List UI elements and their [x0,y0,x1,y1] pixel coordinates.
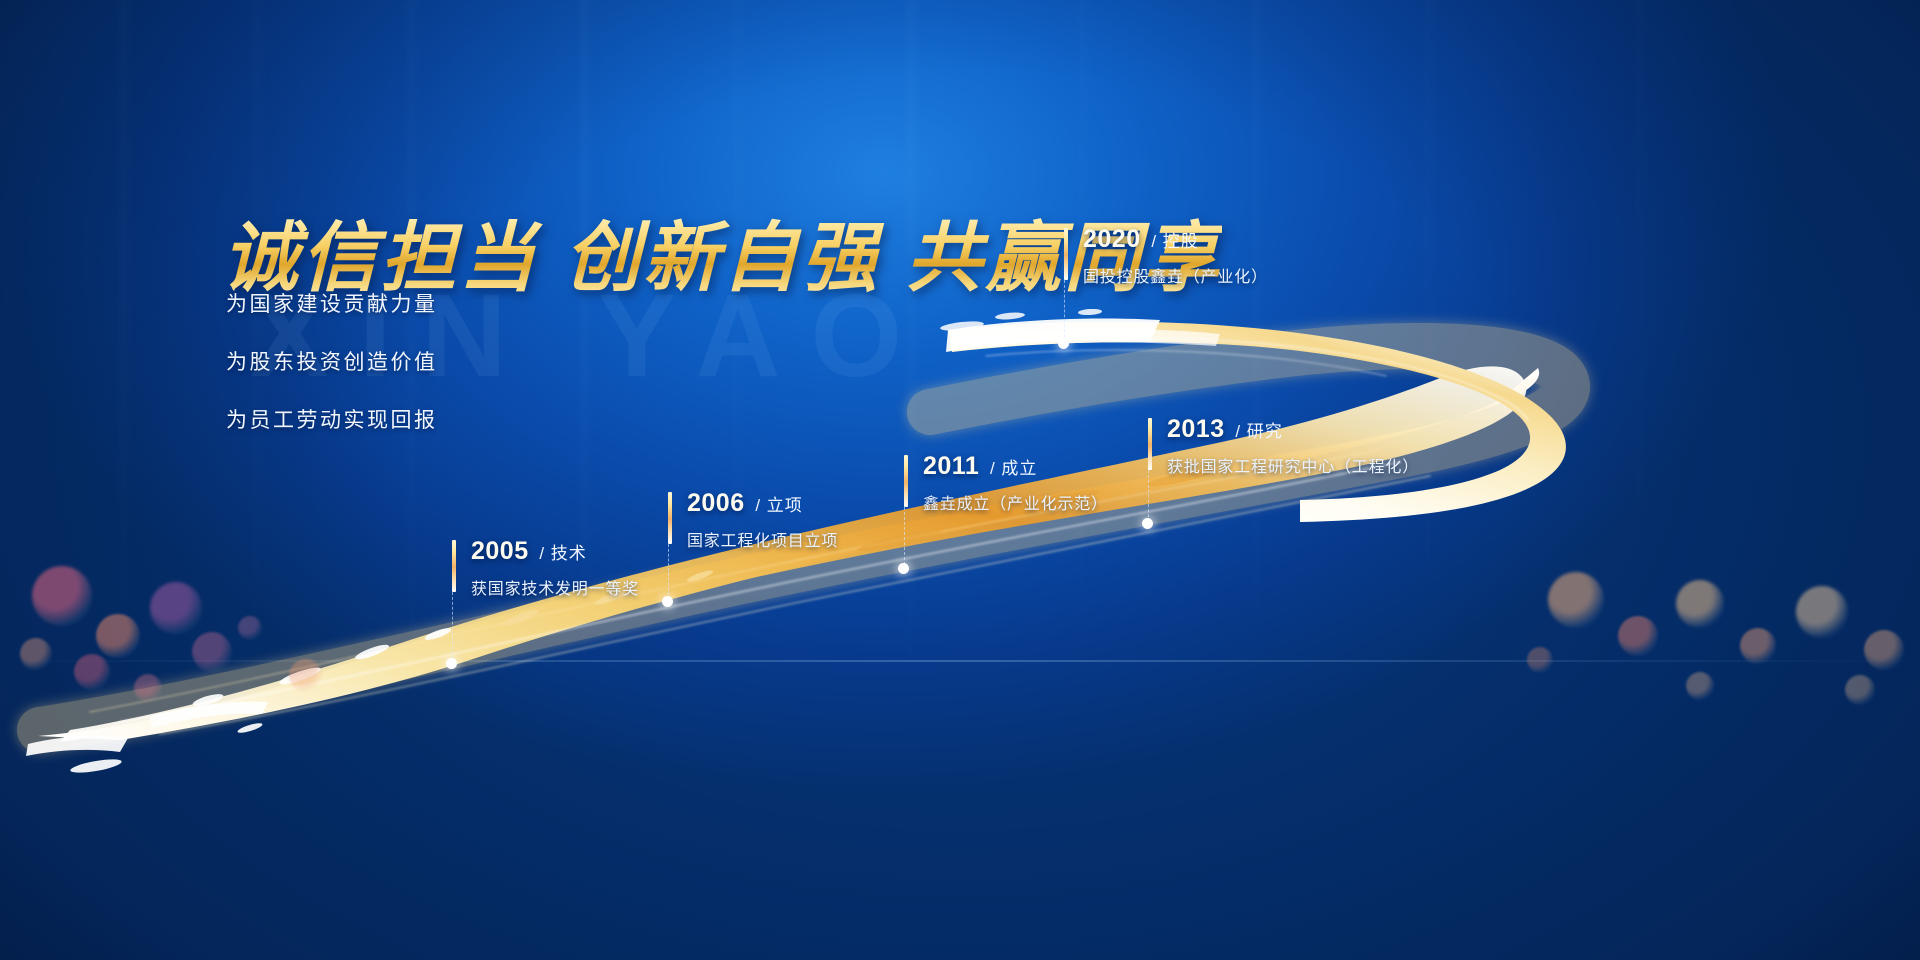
milestone-accent-bar [904,455,908,507]
milestone-heading: 2013 / 研究 [1167,415,1419,444]
milestone-description: 获国家技术发明一等奖 [471,575,639,599]
milestone-separator: / [1146,232,1163,251]
milestone-text: 2006 / 立项国家工程化项目立项 [687,489,838,551]
milestone-tag: 研究 [1247,422,1283,441]
milestone-accent-bar [452,540,456,592]
milestone-accent-bar [1064,228,1068,280]
milestone-connector-line [904,507,905,565]
milestone-tag: 控股 [1163,232,1199,251]
milestone-text: 2013 / 研究获批国家工程研究中心（工程化） [1167,415,1419,477]
milestone-text: 2005 / 技术获国家技术发明一等奖 [471,537,639,599]
milestone-point-marker[interactable] [662,596,673,607]
milestone-year: 2011 [923,452,979,480]
milestone-text: 2020 / 控股国投控股鑫垚（产业化） [1083,225,1268,287]
milestone-description: 获批国家工程研究中心（工程化） [1167,453,1419,477]
milestone-point-marker[interactable] [1142,518,1153,529]
milestone-accent-bar [1148,418,1152,470]
milestone-tag: 立项 [767,496,803,515]
milestone-description: 鑫垚成立（产业化示范） [923,490,1108,514]
milestone-connector-line [668,544,669,600]
subtitle-line-1: 为国家建设贡献力量 [226,288,438,318]
milestone-point-marker[interactable] [446,658,457,669]
milestone-separator: / [534,544,551,563]
milestone-year: 2006 [687,489,745,517]
milestone-description: 国家工程化项目立项 [687,527,838,551]
milestone-point-marker[interactable] [1058,338,1069,349]
milestone-separator: / [1230,422,1247,441]
milestone-tag: 技术 [551,544,587,563]
milestone-description: 国投控股鑫垚（产业化） [1083,263,1268,287]
milestone-year: 2020 [1083,225,1141,253]
subtitle-line-3: 为员工劳动实现回报 [226,404,438,434]
subtitle-line-2: 为股东投资创造价值 [226,346,438,376]
milestone-point-marker[interactable] [898,563,909,574]
milestone-accent-bar [668,492,672,544]
milestone-connector-line [1148,470,1149,522]
milestone-separator: / [750,496,767,515]
milestone-connector-line [452,592,453,664]
milestone-year: 2005 [471,537,529,565]
milestone-connector-line [1064,280,1065,342]
milestone-heading: 2006 / 立项 [687,489,838,518]
headline-part-2: 创新自强 [564,217,880,301]
milestone-year: 2013 [1167,415,1225,443]
milestone-heading: 2011 / 成立 [923,452,1108,481]
milestone-heading: 2005 / 技术 [471,537,639,566]
milestone-text: 2011 / 成立鑫垚成立（产业化示范） [923,452,1108,514]
milestone-tag: 成立 [1001,459,1037,478]
subtitle-list: 为国家建设贡献力量 为股东投资创造价值 为员工劳动实现回报 [226,288,438,462]
poster-canvas: XIN YAO [0,0,1920,960]
milestone-heading: 2020 / 控股 [1083,225,1268,254]
milestone-separator: / [984,459,1001,478]
